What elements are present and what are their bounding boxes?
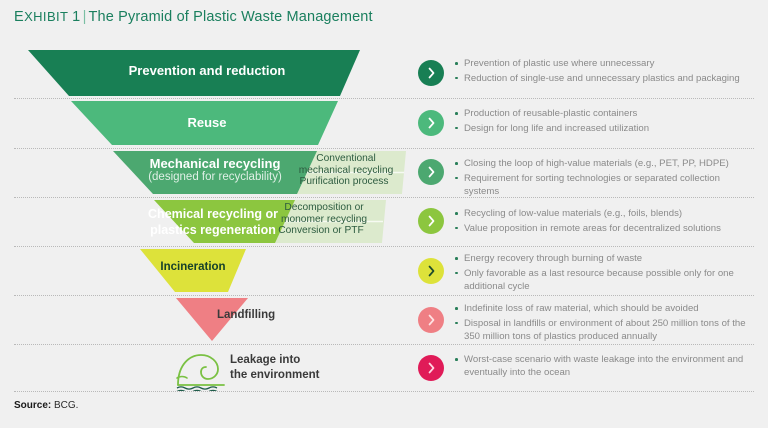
- list-item: Only favorable as a last resource becaus…: [455, 267, 755, 293]
- list-item: Value proposition in remote areas for de…: [455, 222, 755, 235]
- sidebox-conversion-or-ptf: Conversion or PTF: [263, 225, 379, 237]
- sidebox-decomposition-or-monomer-recycling: Decomposition or monomer recycling: [266, 202, 382, 226]
- pyramid-level-prevention[interactable]: Prevention and reduction: [0, 49, 414, 97]
- pyramid-level-label: Reuse: [0, 115, 414, 130]
- level-arrow-landfilling[interactable]: [418, 307, 444, 333]
- chevron-right-icon: [428, 362, 435, 374]
- list-item: Recycling of low-value materials (e.g., …: [455, 207, 755, 220]
- exhibit-root: EXHIBIT 1|The Pyramid of Plastic Waste M…: [0, 0, 768, 428]
- list-item: Requirement for sorting technologies or …: [455, 172, 755, 198]
- level-bullets-prevention: Prevention of plastic use where unnecess…: [455, 57, 755, 86]
- chevron-right-icon: [428, 215, 435, 227]
- row-separator: [14, 98, 754, 99]
- row-separator: [14, 391, 754, 392]
- level-arrow-prevention[interactable]: [418, 60, 444, 86]
- chevron-right-icon: [428, 265, 435, 277]
- pyramid-level-label: Landfilling: [217, 309, 357, 323]
- list-item: Closing the loop of high-value materials…: [455, 157, 755, 170]
- list-item: Production of reusable-plastic container…: [455, 107, 755, 120]
- row-separator: [14, 148, 754, 149]
- list-item: Energy recovery through burning of waste: [455, 252, 755, 265]
- list-item: Reduction of single-use and unnecessary …: [455, 72, 755, 85]
- title-text: The Pyramid of Plastic Waste Management: [89, 9, 373, 25]
- page-title: EXHIBIT 1|The Pyramid of Plastic Waste M…: [14, 9, 373, 25]
- level-arrow-incineration[interactable]: [418, 258, 444, 284]
- list-item: Worst-case scenario with waste leakage i…: [455, 353, 755, 379]
- row-separator: [14, 295, 754, 296]
- list-item: Prevention of plastic use where unnecess…: [455, 57, 755, 70]
- list-item: Design for long life and increased utili…: [455, 122, 755, 135]
- chevron-right-icon: [428, 166, 435, 178]
- list-item: Disposal in landfills or environment of …: [455, 317, 755, 343]
- level-arrow-chemical-recycling[interactable]: [418, 208, 444, 234]
- pyramid-level-chemical-recycling[interactable]: Chemical recycling or plastics regenerat…: [0, 199, 414, 244]
- level-bullets-incineration: Energy recovery through burning of waste…: [455, 252, 755, 295]
- source-value: BCG.: [54, 400, 78, 411]
- level-arrow-reuse[interactable]: [418, 110, 444, 136]
- chevron-right-icon: [428, 67, 435, 79]
- pyramid-level-leakage[interactable]: Leakage into the environment: [0, 346, 414, 391]
- row-separator: [14, 246, 754, 247]
- pyramid-level-label: Incineration: [140, 261, 246, 275]
- level-bullets-mechanical-recycling: Closing the loop of high-value materials…: [455, 157, 755, 200]
- level-bullets-reuse: Production of reusable-plastic container…: [455, 107, 755, 136]
- level-arrow-leakage[interactable]: [418, 355, 444, 381]
- level-bullets-leakage: Worst-case scenario with waste leakage i…: [455, 353, 755, 381]
- pyramid-level-incineration[interactable]: Incineration: [0, 248, 414, 293]
- sidebox-purification-process: Purification process: [286, 176, 402, 188]
- level-arrow-mechanical-recycling[interactable]: [418, 159, 444, 185]
- pyramid-level-reuse[interactable]: Reuse: [0, 100, 414, 146]
- chevron-right-icon: [428, 117, 435, 129]
- pyramid-level-mechanical-recycling[interactable]: Mechanical recycling (designed for recyc…: [0, 150, 414, 195]
- level-bullets-landfilling: Indefinite loss of raw material, which s…: [455, 302, 755, 345]
- chevron-right-icon: [428, 314, 435, 326]
- sidebox-conventional-mechanical-recycling: Conventional mechanical recycling: [288, 153, 404, 177]
- exhibit-label: EXHIBIT 1: [14, 9, 81, 24]
- title-divider: |: [81, 9, 89, 25]
- level-bullets-chemical-recycling: Recycling of low-value materials (e.g., …: [455, 207, 755, 236]
- source-note: Source: BCG.: [14, 400, 78, 411]
- pyramid-level-label: Prevention and reduction: [0, 63, 414, 78]
- pyramid-level-label: Leakage into the environment: [230, 353, 400, 383]
- source-label: Source:: [14, 400, 51, 411]
- pyramid-level-label-main: Mechanical recycling: [150, 156, 281, 171]
- pyramid-level-landfilling[interactable]: Landfilling: [0, 297, 414, 342]
- list-item: Indefinite loss of raw material, which s…: [455, 302, 755, 315]
